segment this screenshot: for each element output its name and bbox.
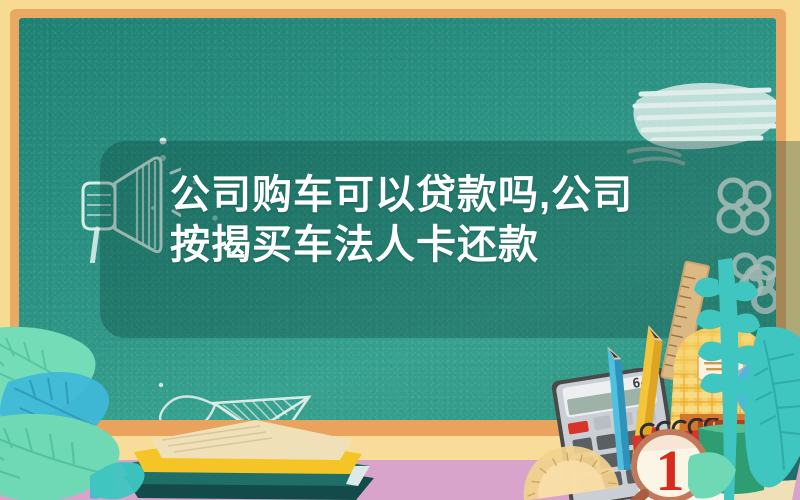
leaves-right [688,250,800,500]
illustration-scene: 公司购车可以贷款吗,公司 按揭买车法人卡还款 [0,0,800,500]
leaf-accent-bottom-left [86,452,156,500]
book-stack [118,418,378,500]
magnified-number: 1 [656,438,685,500]
page-title: 公司购车可以贷款吗,公司 按揭买车法人卡还款 [170,170,640,270]
